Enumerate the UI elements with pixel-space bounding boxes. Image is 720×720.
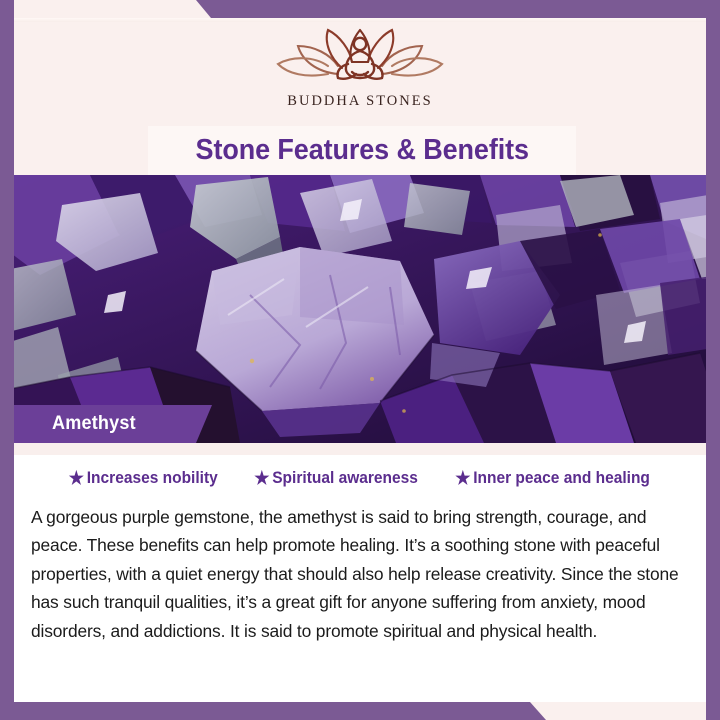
frame-border-left xyxy=(0,0,14,720)
benefit-item-1: ★ Increases nobility xyxy=(69,469,218,488)
benefit-label-3: Inner peace and healing xyxy=(473,469,650,488)
stone-description: A gorgeous purple gemstone, the amethyst… xyxy=(31,503,691,645)
benefit-label-1: Increases nobility xyxy=(87,469,218,488)
brand-logo: BUDDHA STONES xyxy=(14,22,706,122)
star-icon: ★ xyxy=(455,469,470,487)
lotus-meditation-icon xyxy=(276,22,444,90)
page-title: Stone Features & Benefits xyxy=(195,134,528,167)
brand-name: BUDDHA STONES xyxy=(287,93,432,110)
benefit-label-2: Spiritual awareness xyxy=(272,469,418,488)
stone-name-badge: Amethyst xyxy=(0,405,212,443)
benefit-item-2: ★ Spiritual awareness xyxy=(254,469,418,488)
star-icon: ★ xyxy=(69,469,84,487)
benefit-item-3: ★ Inner peace and healing xyxy=(455,469,650,488)
benefits-row: ★ Increases nobility ★ Spiritual awarene… xyxy=(14,464,706,492)
star-icon: ★ xyxy=(254,469,269,487)
stone-name-label: Amethyst xyxy=(52,413,136,435)
panel-top-tint xyxy=(14,443,706,455)
frame-border-right xyxy=(706,0,720,720)
infographic-page: BUDDHA STONES Stone Features & Benefits … xyxy=(0,0,720,720)
title-banner: Stone Features & Benefits xyxy=(148,126,576,175)
amethyst-crystal-cluster-photo xyxy=(0,175,720,443)
frame-hairline xyxy=(14,18,706,22)
